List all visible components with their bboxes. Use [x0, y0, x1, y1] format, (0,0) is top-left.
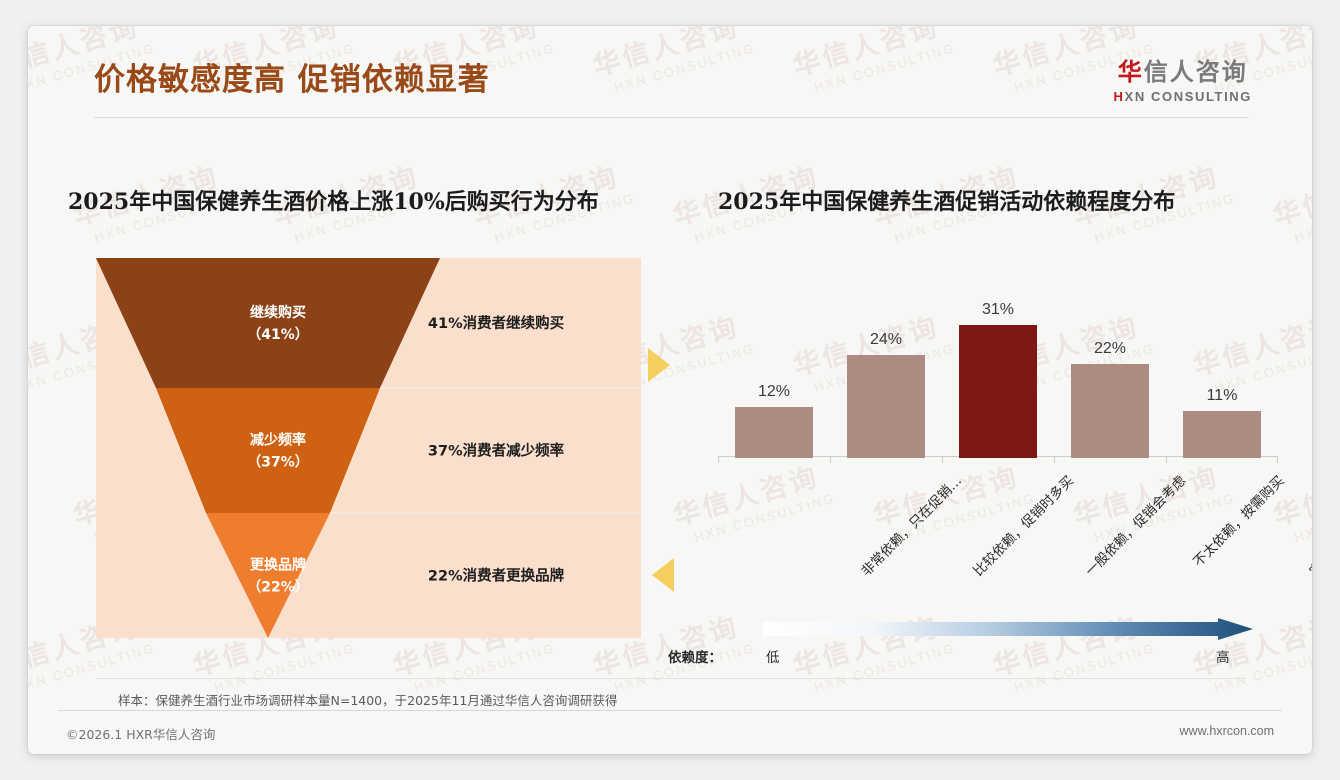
footer-divider: [58, 710, 1282, 711]
axis-tick: [830, 457, 831, 463]
bar-column[interactable]: 11%: [1183, 258, 1261, 458]
dependency-scale-legend: 依赖度： 低 高: [668, 618, 1268, 678]
scale-low-label: 低: [766, 646, 780, 666]
bar-rect[interactable]: [847, 355, 925, 458]
bar-value-label: 24%: [870, 331, 902, 349]
funnel-stage-label: 更换品牌: [250, 557, 306, 574]
footer-copyright: ©2026.1 HXR华信人咨询: [66, 724, 215, 743]
axis-tick: [942, 457, 943, 463]
triangle-right-icon: [648, 348, 670, 382]
scale-labels-row: 依赖度： 低 高: [668, 646, 1268, 666]
bar-chart: 12%24%31%22%11% 非常依赖，只在促销…比较依赖，促销时多买一般依赖…: [718, 258, 1278, 608]
funnel-stage-label: 减少频率: [250, 432, 306, 449]
page-title: 价格敏感度高 促销依赖显著: [94, 54, 490, 99]
funnel-stage[interactable]: [96, 258, 440, 388]
bar-value-label: 22%: [1094, 340, 1126, 358]
watermark-text: 华信人咨询HXN CONSULTING: [1268, 152, 1312, 249]
bar-column[interactable]: 31%: [959, 258, 1037, 458]
funnel-stage-value: （37%）: [247, 455, 309, 471]
logo-chinese-text: 华信人咨询: [1114, 60, 1252, 84]
header-divider: [94, 117, 1249, 118]
funnel-note: 37%消费者减少频率: [428, 442, 565, 460]
bar-rect[interactable]: [735, 407, 813, 458]
category-label: 完全不依赖，从不关…: [1304, 470, 1312, 580]
bar-rect[interactable]: [1183, 411, 1261, 458]
bar-plot-area: 12%24%31%22%11%: [718, 258, 1278, 458]
bar-rect[interactable]: [1071, 364, 1149, 458]
brand-logo: 华信人咨询 HXN CONSULTING: [1114, 60, 1252, 103]
scale-caption: 依赖度：: [668, 646, 722, 666]
funnel-chart: 继续购买（41%）41%消费者继续购买减少频率（37%）37%消费者减少频率更换…: [96, 258, 641, 638]
logo-en-red-char: H: [1114, 89, 1125, 104]
logo-en-rest: XN CONSULTING: [1125, 89, 1252, 104]
slide-canvas: 华信人咨询HXN CONSULTING华信人咨询HXN CONSULTING华信…: [28, 26, 1312, 754]
funnel-stage-label: 继续购买: [250, 304, 306, 321]
category-label: 一般依赖，促销会考虑: [1080, 470, 1190, 580]
triangle-left-icon: [652, 558, 674, 592]
logo-cn-rest: 信人咨询: [1144, 58, 1248, 86]
right-chart-title: 2025年中国保健养生酒促销活动依赖程度分布: [718, 184, 1175, 216]
logo-cn-red-char: 华: [1118, 58, 1144, 86]
slide-header: 价格敏感度高 促销依赖显著 华信人咨询 HXN CONSULTING: [28, 26, 1312, 118]
funnel-stage-value: （41%）: [247, 327, 309, 343]
slide-footer: ©2026.1 HXR华信人咨询 www.hxrcon.com: [28, 716, 1312, 754]
logo-english-text: HXN CONSULTING: [1114, 90, 1252, 103]
gradient-arrow-icon: [763, 618, 1253, 640]
funnel-svg: 继续购买（41%）41%消费者继续购买减少频率（37%）37%消费者减少频率更换…: [96, 258, 641, 638]
bar-value-label: 12%: [758, 383, 790, 401]
axis-tick: [718, 457, 719, 463]
category-label: 非常依赖，只在促销…: [856, 470, 966, 580]
category-label: 不太依赖，按需购买: [1188, 470, 1288, 570]
funnel-note: 22%消费者更换品牌: [428, 567, 565, 585]
footer-website[interactable]: www.hxrcon.com: [1180, 724, 1274, 738]
bar-value-label: 31%: [982, 301, 1014, 319]
bar-column[interactable]: 22%: [1071, 258, 1149, 458]
left-chart-title: 2025年中国保健养生酒价格上涨10%后购买行为分布: [68, 184, 599, 216]
bar-column[interactable]: 12%: [735, 258, 813, 458]
category-label: 比较依赖，促销时多买: [968, 470, 1078, 580]
axis-tick: [1277, 457, 1278, 463]
axis-tick: [1166, 457, 1167, 463]
source-note: 样本：保健养生酒行业市场调研样本量N=1400，于2025年11月通过华信人咨询…: [118, 690, 617, 709]
bar-value-label: 11%: [1207, 387, 1238, 405]
bar-column[interactable]: 24%: [847, 258, 925, 458]
bar-rect[interactable]: [959, 325, 1037, 458]
scale-high-label: 高: [1216, 646, 1230, 666]
gradient-arrow-svg: [763, 618, 1253, 640]
funnel-stage-value: （22%）: [247, 580, 309, 596]
axis-tick: [1054, 457, 1055, 463]
funnel-note: 41%消费者继续购买: [428, 314, 564, 332]
source-divider: [96, 678, 1246, 679]
